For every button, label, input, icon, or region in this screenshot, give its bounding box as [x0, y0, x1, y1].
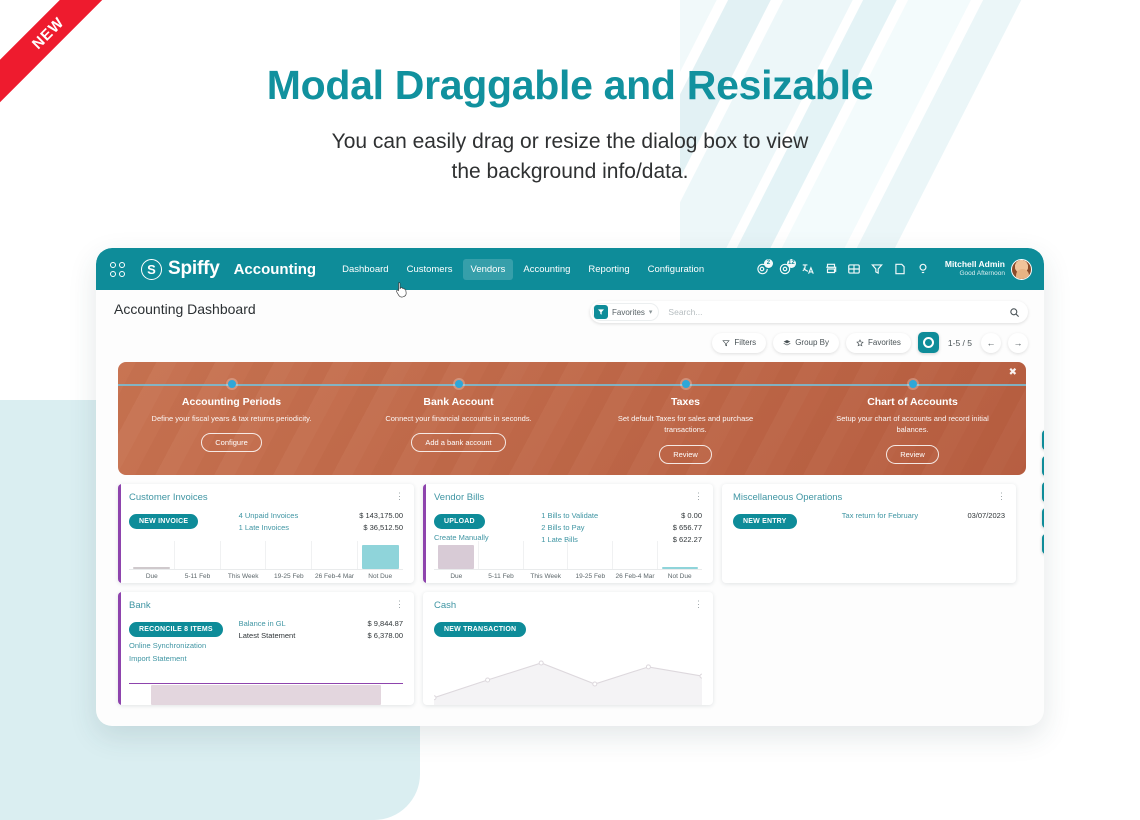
chart-cell — [658, 541, 702, 569]
chart-tick-label: Due — [129, 570, 175, 583]
filter-icon[interactable] — [870, 262, 884, 276]
card-menu-icon[interactable]: ⋮ — [395, 492, 403, 501]
chart-cell — [358, 541, 403, 569]
pager-count: 1-5 / 5 — [948, 338, 972, 348]
step-dot-icon — [455, 380, 463, 388]
app-name: Accounting — [234, 261, 317, 278]
messages-badge: 2 — [764, 259, 773, 268]
cash-point — [486, 678, 490, 682]
user-name: Mitchell Admin — [945, 260, 1005, 270]
chart-tick-label: 5-11 Feb — [479, 570, 524, 583]
card-bank: Bank ⋮ RECONCILE 8 ITEMS Online Synchron… — [118, 592, 414, 705]
view-toggle-button[interactable] — [918, 332, 939, 353]
control-bar: Accounting Dashboard Favorites ▾ Filters — [96, 290, 1044, 353]
mouse-cursor — [394, 281, 409, 299]
avatar[interactable] — [1011, 259, 1032, 280]
filters-button-label: Filters — [734, 338, 756, 347]
card-title: Cash — [434, 600, 456, 611]
cash-point — [434, 696, 436, 700]
invoices-bar-chart: Due5-11 FebThis Week19-25 Feb26 Feb-4 Ma… — [129, 541, 403, 583]
stat-value: $ 656.77 — [673, 522, 702, 534]
stat-label: Balance in GL — [239, 618, 286, 630]
menu-item-configuration[interactable]: Configuration — [640, 259, 713, 280]
menu-item-accounting[interactable]: Accounting — [515, 259, 578, 280]
card-misc-operations: Miscellaneous Operations ⋮ NEW ENTRY Tax… — [722, 484, 1016, 583]
chart-cell — [221, 541, 267, 569]
step-desc: Connect your financial accounts in secon… — [345, 413, 572, 424]
review-coa-button[interactable]: Review — [886, 445, 939, 464]
pager-next-button[interactable]: → — [1008, 333, 1028, 353]
favorites-button-label: Favorites — [868, 338, 901, 347]
page-title: Modal Draggable and Resizable — [0, 62, 1140, 109]
new-entry-button[interactable]: NEW ENTRY — [733, 514, 797, 529]
online-synchronization-link[interactable]: Online Synchronization — [129, 641, 239, 650]
stat-value: $ 36,512.50 — [363, 522, 403, 534]
translate-icon[interactable] — [801, 262, 815, 276]
step-dot-icon — [909, 380, 917, 388]
chart-tick-label: This Week — [220, 570, 266, 583]
stat-row[interactable]: 4 Unpaid Invoices $ 143,175.00 — [239, 510, 403, 522]
chart-cell — [479, 541, 524, 569]
favorites-button[interactable]: Favorites — [846, 333, 911, 353]
onboarding-step-chart-of-accounts: Chart of Accounts Setup your chart of ac… — [799, 362, 1026, 475]
card-title: Miscellaneous Operations — [733, 492, 842, 503]
dashboard-cards: Customer Invoices ⋮ NEW INVOICE 4 Unpaid… — [96, 475, 1044, 705]
chart-tick-label: This Week — [523, 570, 568, 583]
misc-entry-date: 03/07/2023 — [967, 510, 1005, 522]
menu-item-dashboard[interactable]: Dashboard — [334, 259, 396, 280]
navbar: S Spiffy Accounting Dashboard Customers … — [96, 248, 1044, 290]
step-title: Bank Account — [345, 396, 572, 408]
app-window: S Spiffy Accounting Dashboard Customers … — [96, 248, 1044, 726]
discuss-icon[interactable]: 12 — [778, 262, 792, 276]
stat-row[interactable]: 1 Late Invoices $ 36,512.50 — [239, 522, 403, 534]
note-icon[interactable] — [893, 262, 907, 276]
hero-subtitle: You can easily drag or resize the dialog… — [0, 127, 1140, 187]
chart-bar[interactable] — [151, 685, 381, 705]
step-dot-icon — [682, 380, 690, 388]
cash-area-chart — [434, 653, 702, 705]
import-statement-link[interactable]: Import Statement — [129, 654, 239, 663]
brand-mark-icon: S — [141, 259, 162, 280]
side-action-buttons — [1042, 430, 1044, 554]
tip-icon[interactable] — [916, 262, 930, 276]
user-greeting: Good Afternoon — [945, 270, 1005, 277]
navbar-menu: Dashboard Customers Vendors Accounting R… — [334, 259, 712, 280]
reconcile-button[interactable]: RECONCILE 8 ITEMS — [129, 622, 223, 637]
search-bar[interactable]: Favorites ▾ — [590, 301, 1028, 323]
search-icon[interactable] — [1009, 307, 1020, 318]
star-icon[interactable] — [1042, 430, 1044, 450]
stat-label: 1 Bills to Validate — [541, 510, 598, 522]
stat-value: $ 0.00 — [681, 510, 702, 522]
chart-tick-label: 19-25 Feb — [266, 570, 312, 583]
chart-cell — [613, 541, 658, 569]
group-by-button-label: Group By — [795, 338, 829, 347]
cash-point — [593, 682, 597, 686]
step-dot-icon — [228, 380, 236, 388]
card-menu-icon[interactable]: ⋮ — [694, 492, 702, 501]
stat-value: $ 6,378.00 — [368, 630, 403, 642]
card-title: Customer Invoices — [129, 492, 208, 503]
chart-tick-label: 26 Feb-4 Mar — [613, 570, 658, 583]
control-actions: Filters Group By Favorites 1-5 / 5 ← → — [114, 332, 1028, 353]
stat-label: 2 Bills to Pay — [541, 522, 584, 534]
card-customer-invoices: Customer Invoices ⋮ NEW INVOICE 4 Unpaid… — [118, 484, 414, 583]
expand-icon[interactable] — [1042, 482, 1044, 502]
chart-cell — [175, 541, 221, 569]
stat-value: $ 143,175.00 — [359, 510, 403, 522]
zoom-icon[interactable] — [1042, 508, 1044, 528]
messages-icon[interactable]: 2 — [755, 262, 769, 276]
cash-point — [539, 661, 543, 665]
chart-tick-label: 26 Feb-4 Mar — [312, 570, 358, 583]
favorites-chip[interactable]: Favorites ▾ — [592, 303, 659, 321]
chart-bar[interactable] — [362, 545, 400, 569]
chart-bar[interactable] — [438, 545, 475, 569]
menu-item-reporting[interactable]: Reporting — [580, 259, 637, 280]
chart-tick-label: Not Due — [657, 570, 702, 583]
group-by-button[interactable]: Group By — [773, 333, 839, 353]
card-menu-icon[interactable]: ⋮ — [694, 600, 702, 609]
chart-cell — [129, 541, 175, 569]
card-vendor-bills: Vendor Bills ⋮ UPLOAD Create Manually 1 … — [423, 484, 713, 583]
apps-icon[interactable] — [847, 262, 861, 276]
apps-grid-icon[interactable] — [110, 262, 125, 277]
menu-item-customers[interactable]: Customers — [399, 259, 461, 280]
chart-tick-label: Not Due — [357, 570, 403, 583]
card-menu-icon[interactable]: ⋮ — [997, 492, 1005, 501]
misc-entry-row[interactable]: Tax return for February 03/07/2023 — [842, 510, 1005, 522]
chart-cell — [524, 541, 569, 569]
hero-subtitle-line1: You can easily drag or resize the dialog… — [0, 127, 1140, 157]
chart-cell — [312, 541, 358, 569]
bank-bar-chart — [129, 683, 403, 705]
print-icon[interactable] — [824, 262, 838, 276]
card-title: Vendor Bills — [434, 492, 484, 503]
onboarding-step-taxes: Taxes Set default Taxes for sales and pu… — [572, 362, 799, 475]
step-desc: Setup your chart of accounts and record … — [799, 413, 1026, 436]
stat-row[interactable]: Balance in GL $ 9,844.87 — [239, 618, 403, 630]
stat-label: Latest Statement — [239, 630, 296, 642]
user-menu[interactable]: Mitchell Admin Good Afternoon — [945, 259, 1032, 280]
configure-button[interactable]: Configure — [201, 433, 262, 452]
cash-point — [646, 665, 650, 669]
discuss-badge: 12 — [787, 259, 796, 268]
brand-name: Spiffy — [168, 258, 220, 280]
hero-subtitle-line2: the background info/data. — [0, 157, 1140, 187]
card-cash: Cash ⋮ NEW TRANSACTION — [423, 592, 713, 705]
chart-tick-label: 5-11 Feb — [175, 570, 221, 583]
step-title: Accounting Periods — [118, 396, 345, 408]
chart-cell — [434, 541, 479, 569]
review-taxes-button[interactable]: Review — [659, 445, 712, 464]
cash-point — [700, 674, 702, 678]
chart-tick-label: 19-25 Feb — [568, 570, 613, 583]
chevron-down-icon: ▾ — [649, 308, 653, 316]
add-bank-account-button[interactable]: Add a bank account — [411, 433, 505, 452]
stat-value: $ 9,844.87 — [368, 618, 403, 630]
card-menu-icon[interactable]: ⋮ — [395, 600, 403, 609]
upload-button[interactable]: UPLOAD — [434, 514, 485, 529]
dashboard-title: Accounting Dashboard — [114, 301, 256, 317]
brand-logo[interactable]: S Spiffy — [141, 258, 220, 280]
hero-section: Modal Draggable and Resizable You can ea… — [0, 0, 1140, 187]
chart-cell — [266, 541, 312, 569]
navbar-right-icons: 2 12 — [755, 259, 1032, 280]
menu-item-vendors[interactable]: Vendors — [463, 259, 514, 280]
stat-label: 4 Unpaid Invoices — [239, 510, 299, 522]
step-desc: Set default Taxes for sales and purchase… — [572, 413, 799, 436]
search-input[interactable] — [659, 307, 1009, 317]
card-title: Bank — [129, 600, 151, 611]
search-icon[interactable] — [1042, 456, 1044, 476]
step-title: Chart of Accounts — [799, 396, 1026, 408]
bills-bar-chart: Due5-11 FebThis Week19-25 Feb26 Feb-4 Ma… — [434, 541, 702, 583]
pager-prev-button[interactable]: ← — [981, 333, 1001, 353]
chart-tick-label: Due — [434, 570, 479, 583]
onboarding-step-bank-account: Bank Account Connect your financial acco… — [345, 362, 572, 475]
step-desc: Define your fiscal years & tax returns p… — [118, 413, 345, 424]
new-invoice-button[interactable]: NEW INVOICE — [129, 514, 198, 529]
step-title: Taxes — [572, 396, 799, 408]
filters-button[interactable]: Filters — [712, 333, 766, 353]
chart-cell — [568, 541, 613, 569]
stat-row[interactable]: 1 Bills to Validate $ 0.00 — [541, 510, 702, 522]
new-transaction-button[interactable]: NEW TRANSACTION — [434, 622, 526, 637]
onboarding-banner: ✖ Accounting Periods Define your fiscal … — [118, 362, 1026, 475]
chart-cell — [129, 684, 403, 705]
funnel-chip-icon — [594, 305, 608, 319]
onboarding-step-accounting-periods: Accounting Periods Define your fiscal ye… — [118, 362, 345, 475]
stat-label: 1 Late Invoices — [239, 522, 289, 534]
misc-entry-label: Tax return for February — [842, 510, 918, 522]
bookmark-icon[interactable] — [1042, 534, 1044, 554]
stat-row[interactable]: Latest Statement $ 6,378.00 — [239, 630, 403, 642]
stat-row[interactable]: 2 Bills to Pay $ 656.77 — [541, 522, 702, 534]
favorites-chip-label: Favorites — [612, 308, 645, 317]
